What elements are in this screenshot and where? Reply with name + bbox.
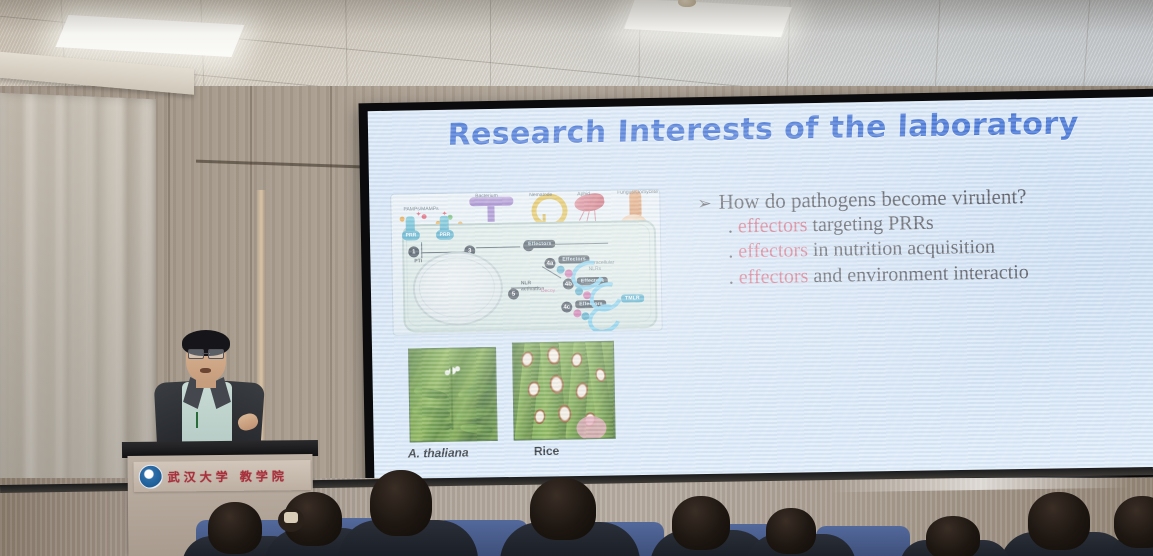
ttss-needle-shape [487, 206, 494, 222]
podium-plate-text: 武汉大学 教学院 [168, 467, 288, 485]
clip-microphone [196, 412, 198, 428]
dot-bullet-icon-2: . [728, 241, 733, 263]
bullet-main-text: How do pathogens become virulent? [718, 184, 1026, 214]
lecture-hall-scene: Research Interests of the laboratory PAM… [0, 0, 1153, 556]
university-crest-logo [139, 465, 163, 489]
slide-bullet-list: ➢How do pathogens become virulent? .effe… [697, 183, 1153, 292]
podium: 武汉大学 教学院 [127, 454, 313, 556]
prr-label-1: PRR [402, 230, 420, 240]
arabidopsis-plant-photo [408, 347, 498, 443]
rice-leaf-lesion-photo [512, 341, 616, 441]
bullet-sub-2-rest: in nutrition acquisition [808, 236, 996, 261]
slide-title: Research Interests of the laboratory [368, 105, 1153, 155]
tmlr-badge: TMLR [621, 294, 644, 302]
dot-bullet-icon-1: . [728, 215, 733, 237]
aphid-label: Aphid [577, 191, 590, 197]
photo-caption-rice: Rice [534, 444, 560, 458]
photo-caption-arabidopsis: A. thaliana [408, 445, 469, 460]
arrow-bullet-icon: ➢ [697, 194, 712, 213]
plant-immunity-pathway-diagram: PAMPs/MAMPs Bacterium Nematode Aphid Fun… [391, 190, 662, 335]
pti-label: PTI [414, 258, 422, 264]
fungus-label: Fungus/Oomycete [617, 190, 658, 196]
decoy-label: Decoy [541, 288, 555, 294]
eyeglasses-icon [188, 349, 224, 357]
bullet-sub-3-highlight: effectors [739, 265, 809, 288]
effectors-badge-2: Effectors [524, 240, 556, 249]
mouth [200, 368, 211, 373]
podium-name-plate: 武汉大学 教学院 [134, 460, 311, 492]
bacterium-label: Bacterium [475, 193, 498, 199]
bullet-sub-2-highlight: effectors [738, 239, 808, 262]
dot-bullet-icon-3: . [729, 266, 734, 288]
bullet-sub-1-highlight: effectors [738, 214, 808, 237]
nematode-label: Nematode [529, 192, 552, 198]
bullet-sub-1-rest: targeting PRRs [807, 211, 934, 235]
presentation-slide: Research Interests of the laboratory PAM… [368, 97, 1153, 483]
bullet-sub-3-rest: and environment interactio [808, 261, 1029, 287]
prr-label-2: PRR [436, 230, 454, 240]
projection-screen-frame: Research Interests of the laboratory PAM… [359, 89, 1153, 492]
